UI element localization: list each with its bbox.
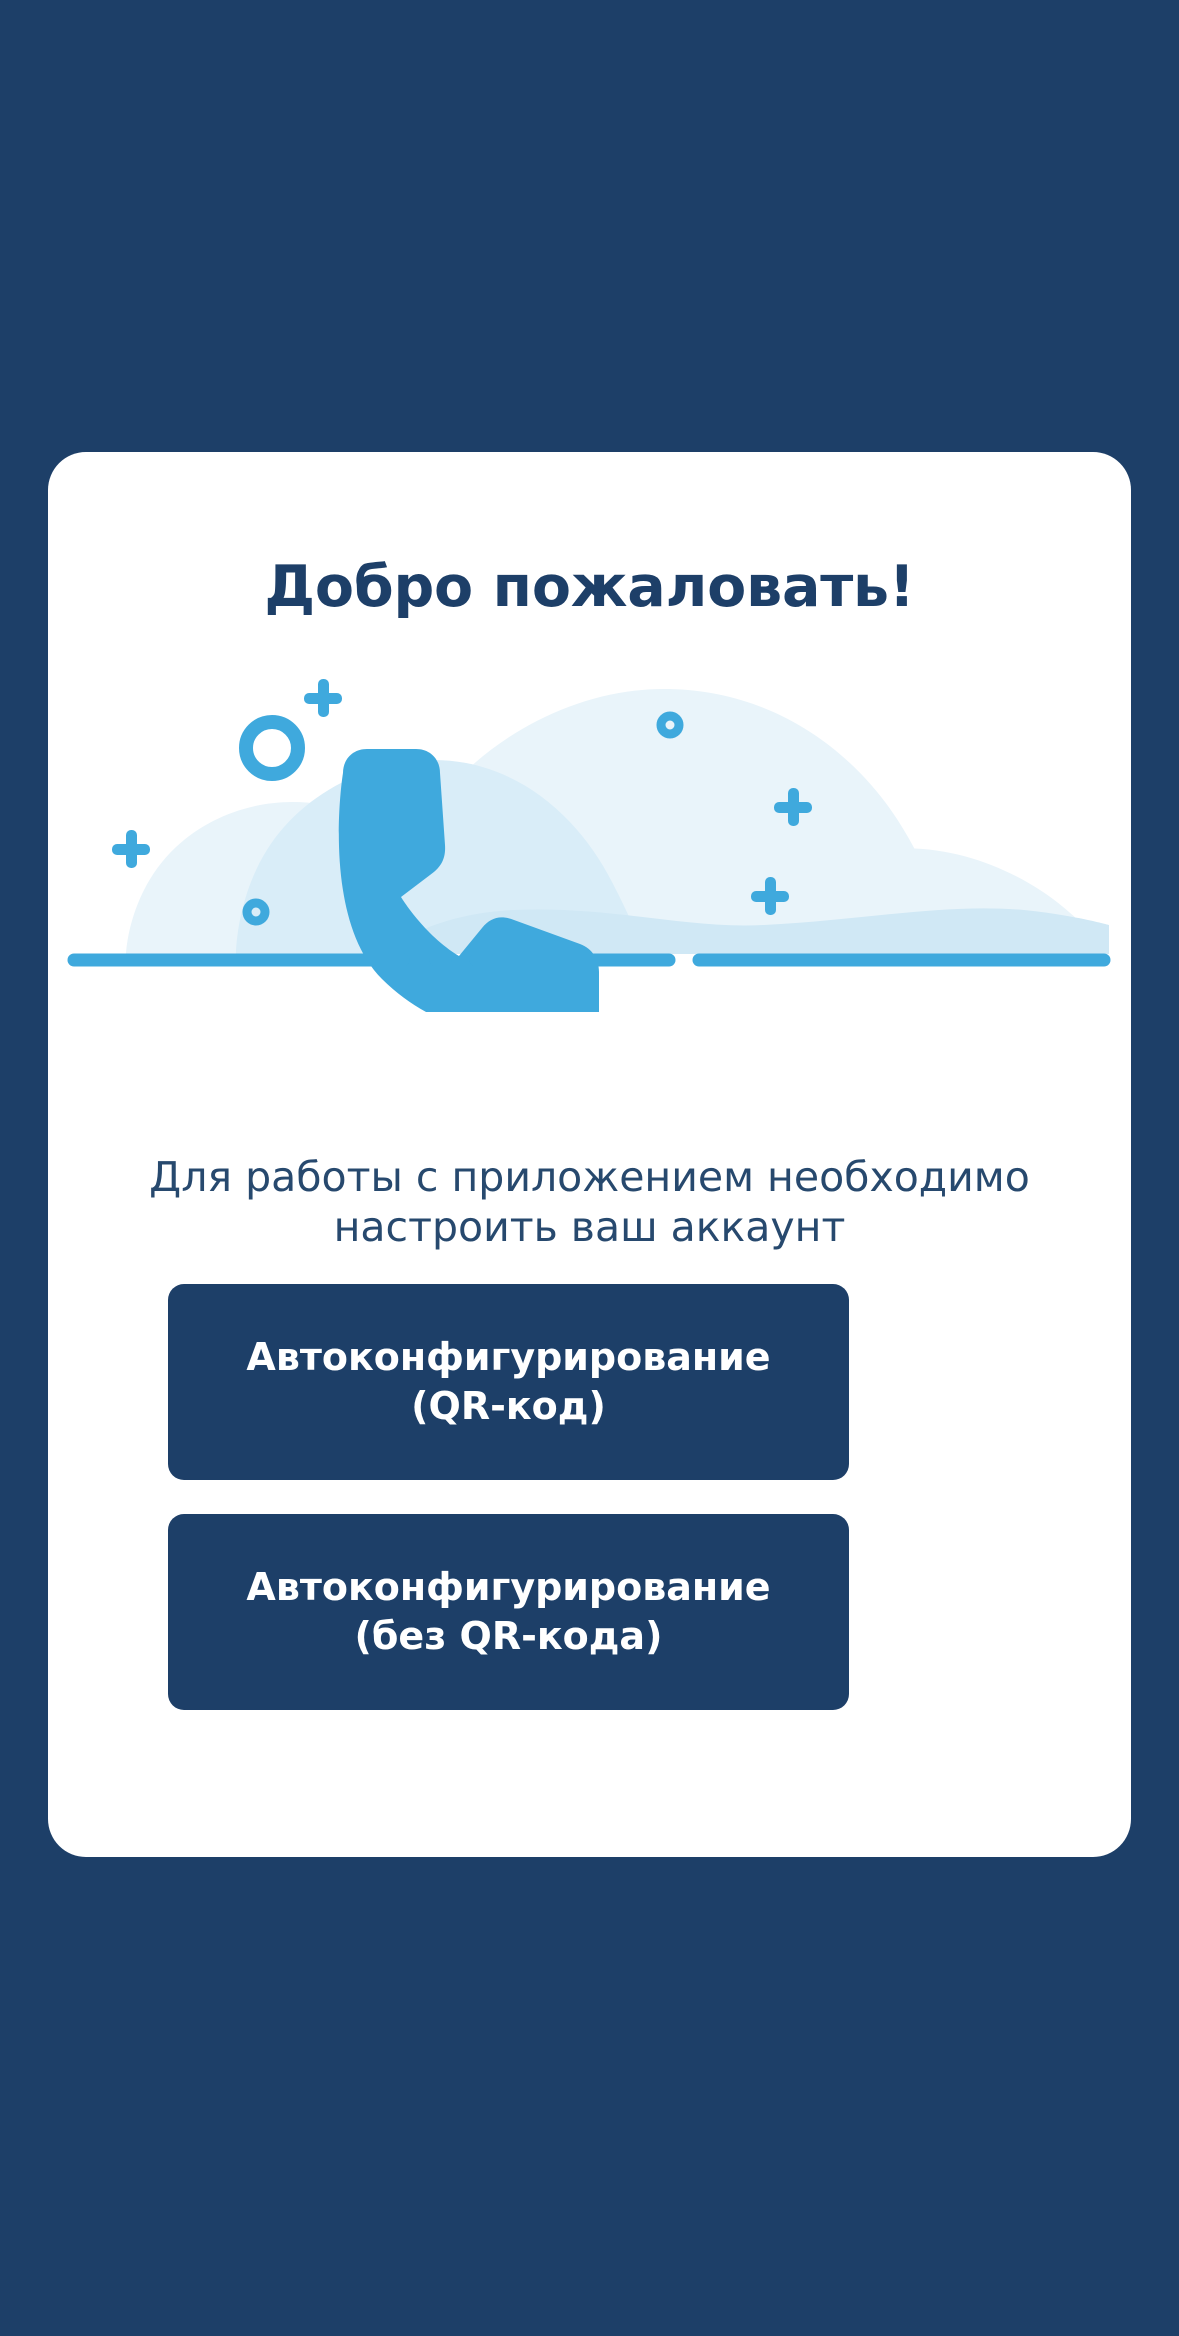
welcome-card: Добро пожаловать! xyxy=(48,452,1131,1857)
plus-icon-left xyxy=(112,830,150,868)
plus-icon-top xyxy=(304,679,342,717)
app-screen: Добро пожаловать! xyxy=(0,0,1179,2336)
phone-handset-illustration xyxy=(64,667,1115,1012)
ring-icon-large xyxy=(246,722,298,774)
page-subtitle: Для работы с приложением необходимо наст… xyxy=(88,1152,1091,1252)
auto-config-qr-button[interactable]: Автоконфигурирование (QR-код) xyxy=(168,1284,849,1480)
page-title: Добро пожаловать! xyxy=(48,556,1131,619)
auto-config-no-qr-button[interactable]: Автоконфигурирование (без QR-кода) xyxy=(168,1514,849,1710)
